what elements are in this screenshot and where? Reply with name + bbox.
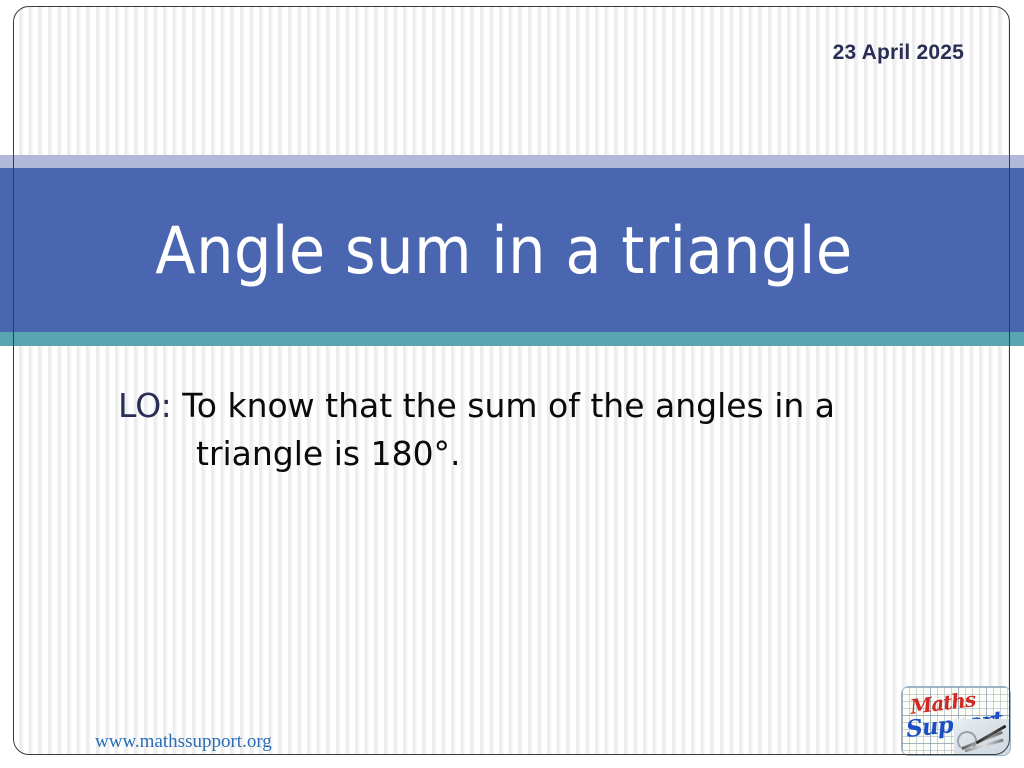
presentation-slide: 23 April 2025 Angle sum in a triangle LO… <box>0 0 1024 768</box>
slide-date: 23 April 2025 <box>833 41 964 65</box>
footer-website-link[interactable]: www.mathssupport.org <box>95 731 272 753</box>
logo-drawing-tools-photo <box>954 719 1010 755</box>
learning-objective-line-1: To know that the sum of the angles in a <box>172 386 835 425</box>
banner-main-band: Angle sum in a triangle <box>0 168 1024 332</box>
title-banner: Angle sum in a triangle <box>0 155 1024 346</box>
banner-bottom-accent-strip <box>0 332 1024 346</box>
learning-objective-block: LO: To know that the sum of the angles i… <box>118 382 958 478</box>
maths-support-logo[interactable]: Maths Support <box>901 686 1011 756</box>
slide-title: Angle sum in a triangle <box>155 212 852 288</box>
learning-objective-line-2: triangle is 180°. <box>118 430 958 478</box>
banner-top-accent-strip <box>0 155 1024 168</box>
learning-objective-label: LO: <box>118 386 172 425</box>
slide-background-texture <box>14 7 1009 754</box>
